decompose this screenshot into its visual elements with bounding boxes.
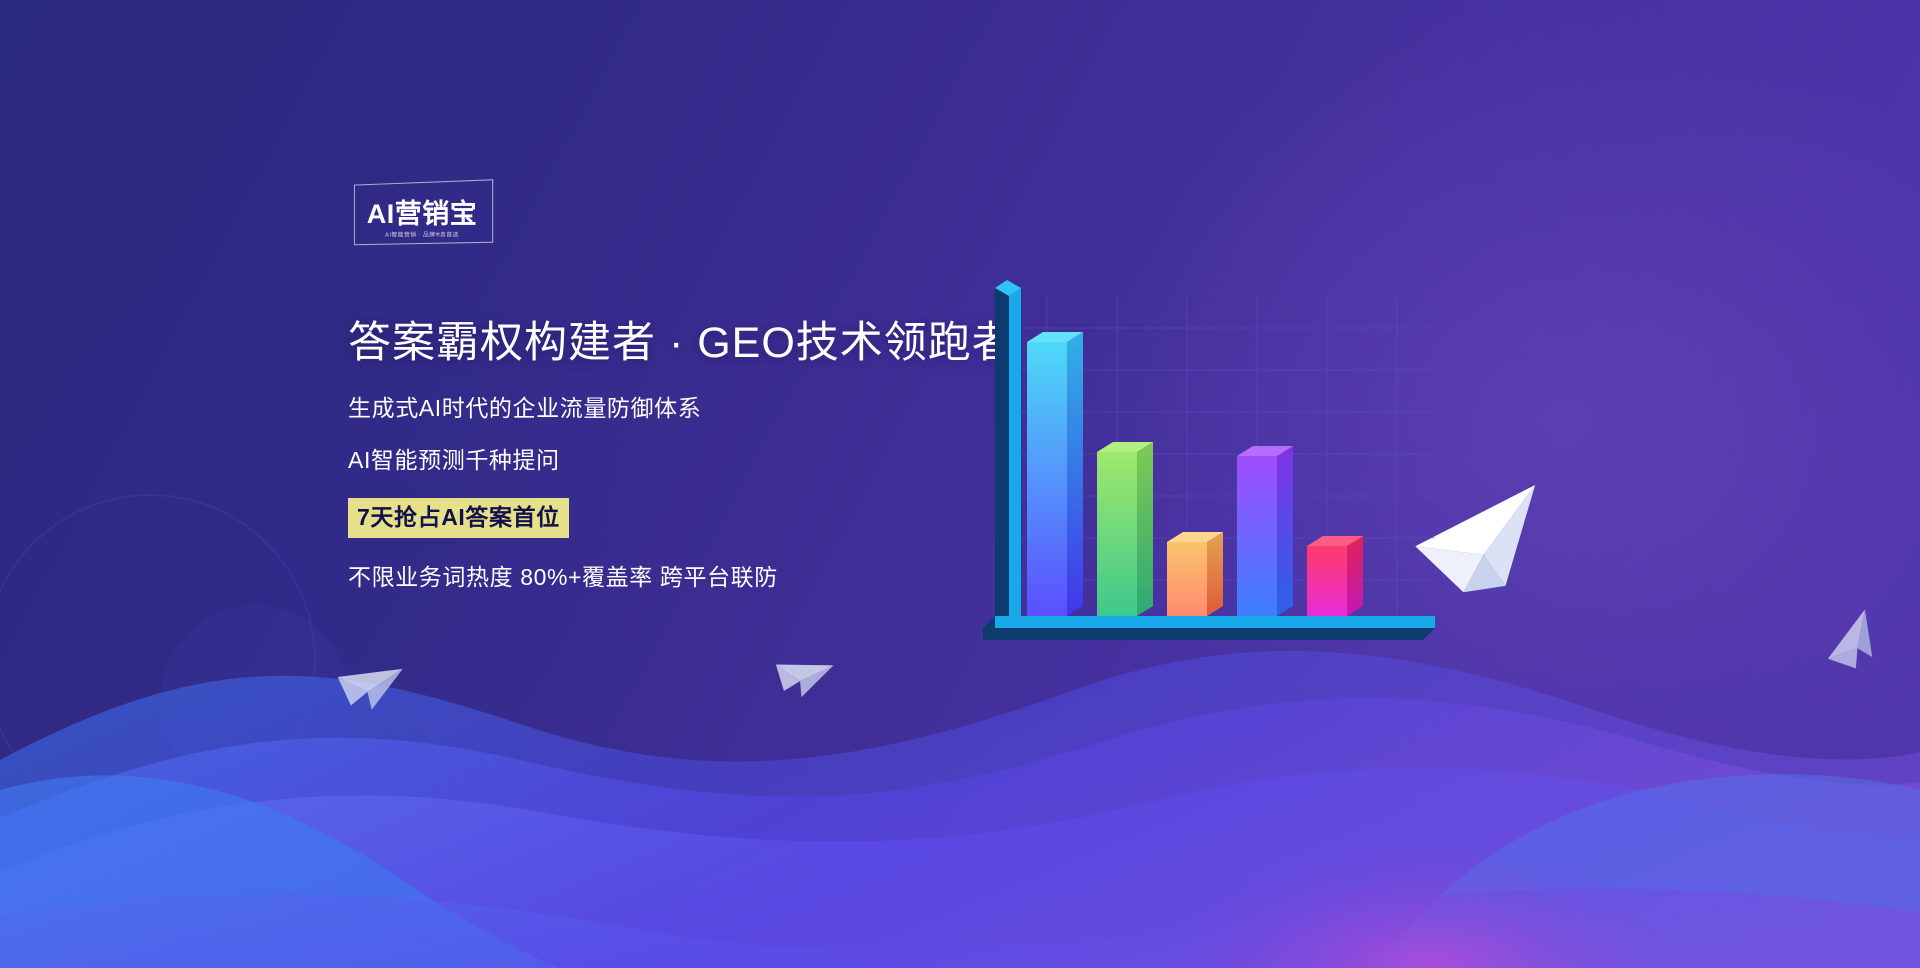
chart-y-axis (995, 280, 1021, 624)
wave-accent-left (0, 775, 560, 968)
paper-plane-icon-small-right (1818, 609, 1891, 679)
wave-bottom (0, 889, 1920, 968)
chart-bar-4 (1237, 446, 1293, 616)
chart-bar-3 (1167, 532, 1223, 616)
pink-glow (1170, 848, 1690, 968)
wave-back (0, 651, 1920, 968)
wave-front (0, 768, 1920, 968)
hero-copy: 答案霸权构建者 · GEO技术领跑者 生成式AI时代的企业流量防御体系 AI智能… (348, 318, 968, 589)
hero-subline-2: AI智能预测千种提问 (348, 449, 968, 472)
paper-plane-icon-small-mid (769, 650, 833, 703)
chart-bar-2 (1097, 442, 1153, 616)
chart-bar-1 (1027, 332, 1083, 616)
decorative-circle (0, 495, 315, 825)
decorative-circle-filled (160, 605, 350, 795)
hero-subline-1: 生成式AI时代的企业流量防御体系 (348, 397, 968, 420)
bar-chart-illustration (965, 288, 1445, 668)
hero-subline-3: 不限业务词热度 80%+覆盖率 跨平台联防 (348, 566, 968, 589)
chart-bar-5 (1307, 536, 1363, 616)
brand-logo[interactable]: AI营销宝 AI智能营销 · 品牌ण务首选 (352, 182, 492, 244)
hero-banner: AI营销宝 AI智能营销 · 品牌ण务首选 答案霸权构建者 · GEO技术领跑者… (0, 0, 1920, 968)
logo-tagline: AI智能营销 · 品牌ण务首选 (385, 233, 459, 239)
paper-plane-icon-small-left (334, 660, 403, 713)
hero-headline: 答案霸权构建者 · GEO技术领跑者 (348, 318, 968, 369)
bar-chart-svg (965, 288, 1445, 668)
chart-x-axis (983, 616, 1435, 640)
wave-mid (0, 699, 1920, 968)
wave-accent-right (1380, 774, 1920, 968)
hero-highlight-wrap: 7天抢占AI答案首位 (348, 498, 968, 538)
hero-highlight-badge: 7天抢占AI答案首位 (348, 498, 569, 538)
logo-wordmark: AI营销宝 (367, 201, 478, 228)
